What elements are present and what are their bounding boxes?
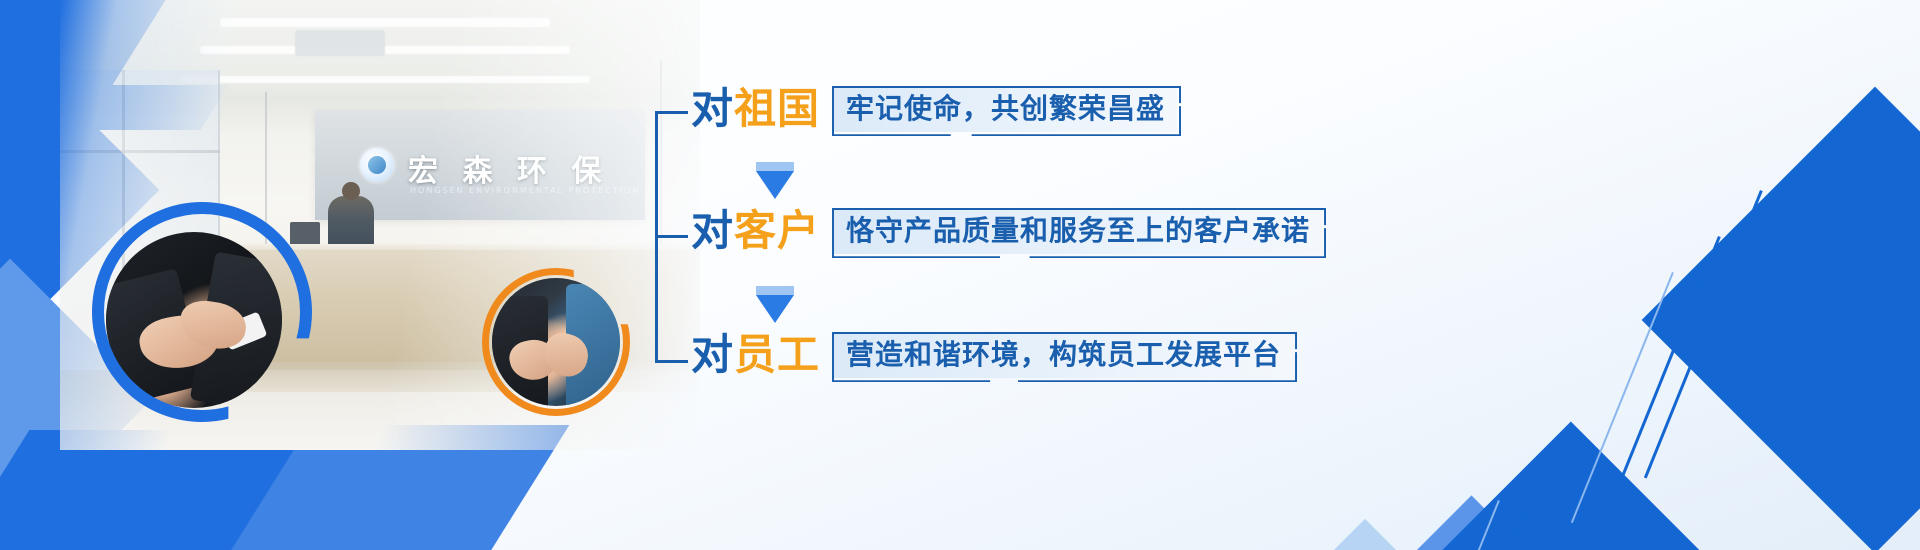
company-logo-icon	[360, 148, 394, 182]
ceiling-light-strip	[220, 18, 550, 27]
down-arrow-triangle	[756, 295, 794, 323]
value-lead-prefix: 对	[691, 330, 734, 379]
down-arrow-cap	[756, 286, 794, 295]
bracket-tick	[658, 235, 688, 238]
down-arrow-triangle	[756, 171, 794, 199]
ceiling-light-strip	[180, 76, 590, 83]
glass-mullion	[60, 150, 220, 153]
bracket-tick	[658, 360, 688, 363]
value-phrase-employee: 营造和谐环境，构筑员工发展平台	[832, 332, 1293, 378]
value-lead-prefix: 对	[691, 84, 734, 133]
down-arrow-cap	[756, 162, 794, 171]
value-lead-keyword: 祖国	[734, 84, 820, 133]
ceiling-light-strip	[200, 46, 570, 54]
value-row-employee: 对员工 营造和谐环境，构筑员工发展平台	[691, 332, 1293, 378]
company-name-sign-sub: HONGSEN ENVIRONMENTAL PROTECTION	[410, 186, 640, 195]
company-values-banner: 宏 森 环 保 HONGSEN ENVIRONMENTAL PROTECTION	[0, 0, 1920, 550]
values-list: 对祖国 牢记使命，共创繁荣昌盛 对客户 恪守产品质量和服务至上的客户承诺 对员工…	[655, 86, 1355, 386]
values-bracket	[655, 111, 689, 363]
value-lead-keyword: 员工	[734, 330, 820, 379]
value-lead-employee: 对员工	[691, 334, 820, 376]
bracket-tick	[658, 111, 688, 114]
ceiling-vent	[295, 30, 385, 56]
value-phrase-country: 牢记使命，共创繁荣昌盛	[832, 86, 1177, 132]
reception-counter-base	[210, 362, 700, 392]
value-lead-keyword: 客户	[734, 206, 820, 255]
value-lead-country: 对祖国	[691, 88, 820, 130]
value-phrase-customer: 恪守产品质量和服务至上的客户承诺	[832, 208, 1322, 254]
value-lead-customer: 对客户	[691, 210, 820, 252]
company-name-sign: 宏 森 环 保	[408, 146, 608, 190]
value-lead-prefix: 对	[691, 206, 734, 255]
value-row-customer: 对客户 恪守产品质量和服务至上的客户承诺	[691, 208, 1322, 254]
value-row-country: 对祖国 牢记使命，共创繁荣昌盛	[691, 86, 1177, 132]
